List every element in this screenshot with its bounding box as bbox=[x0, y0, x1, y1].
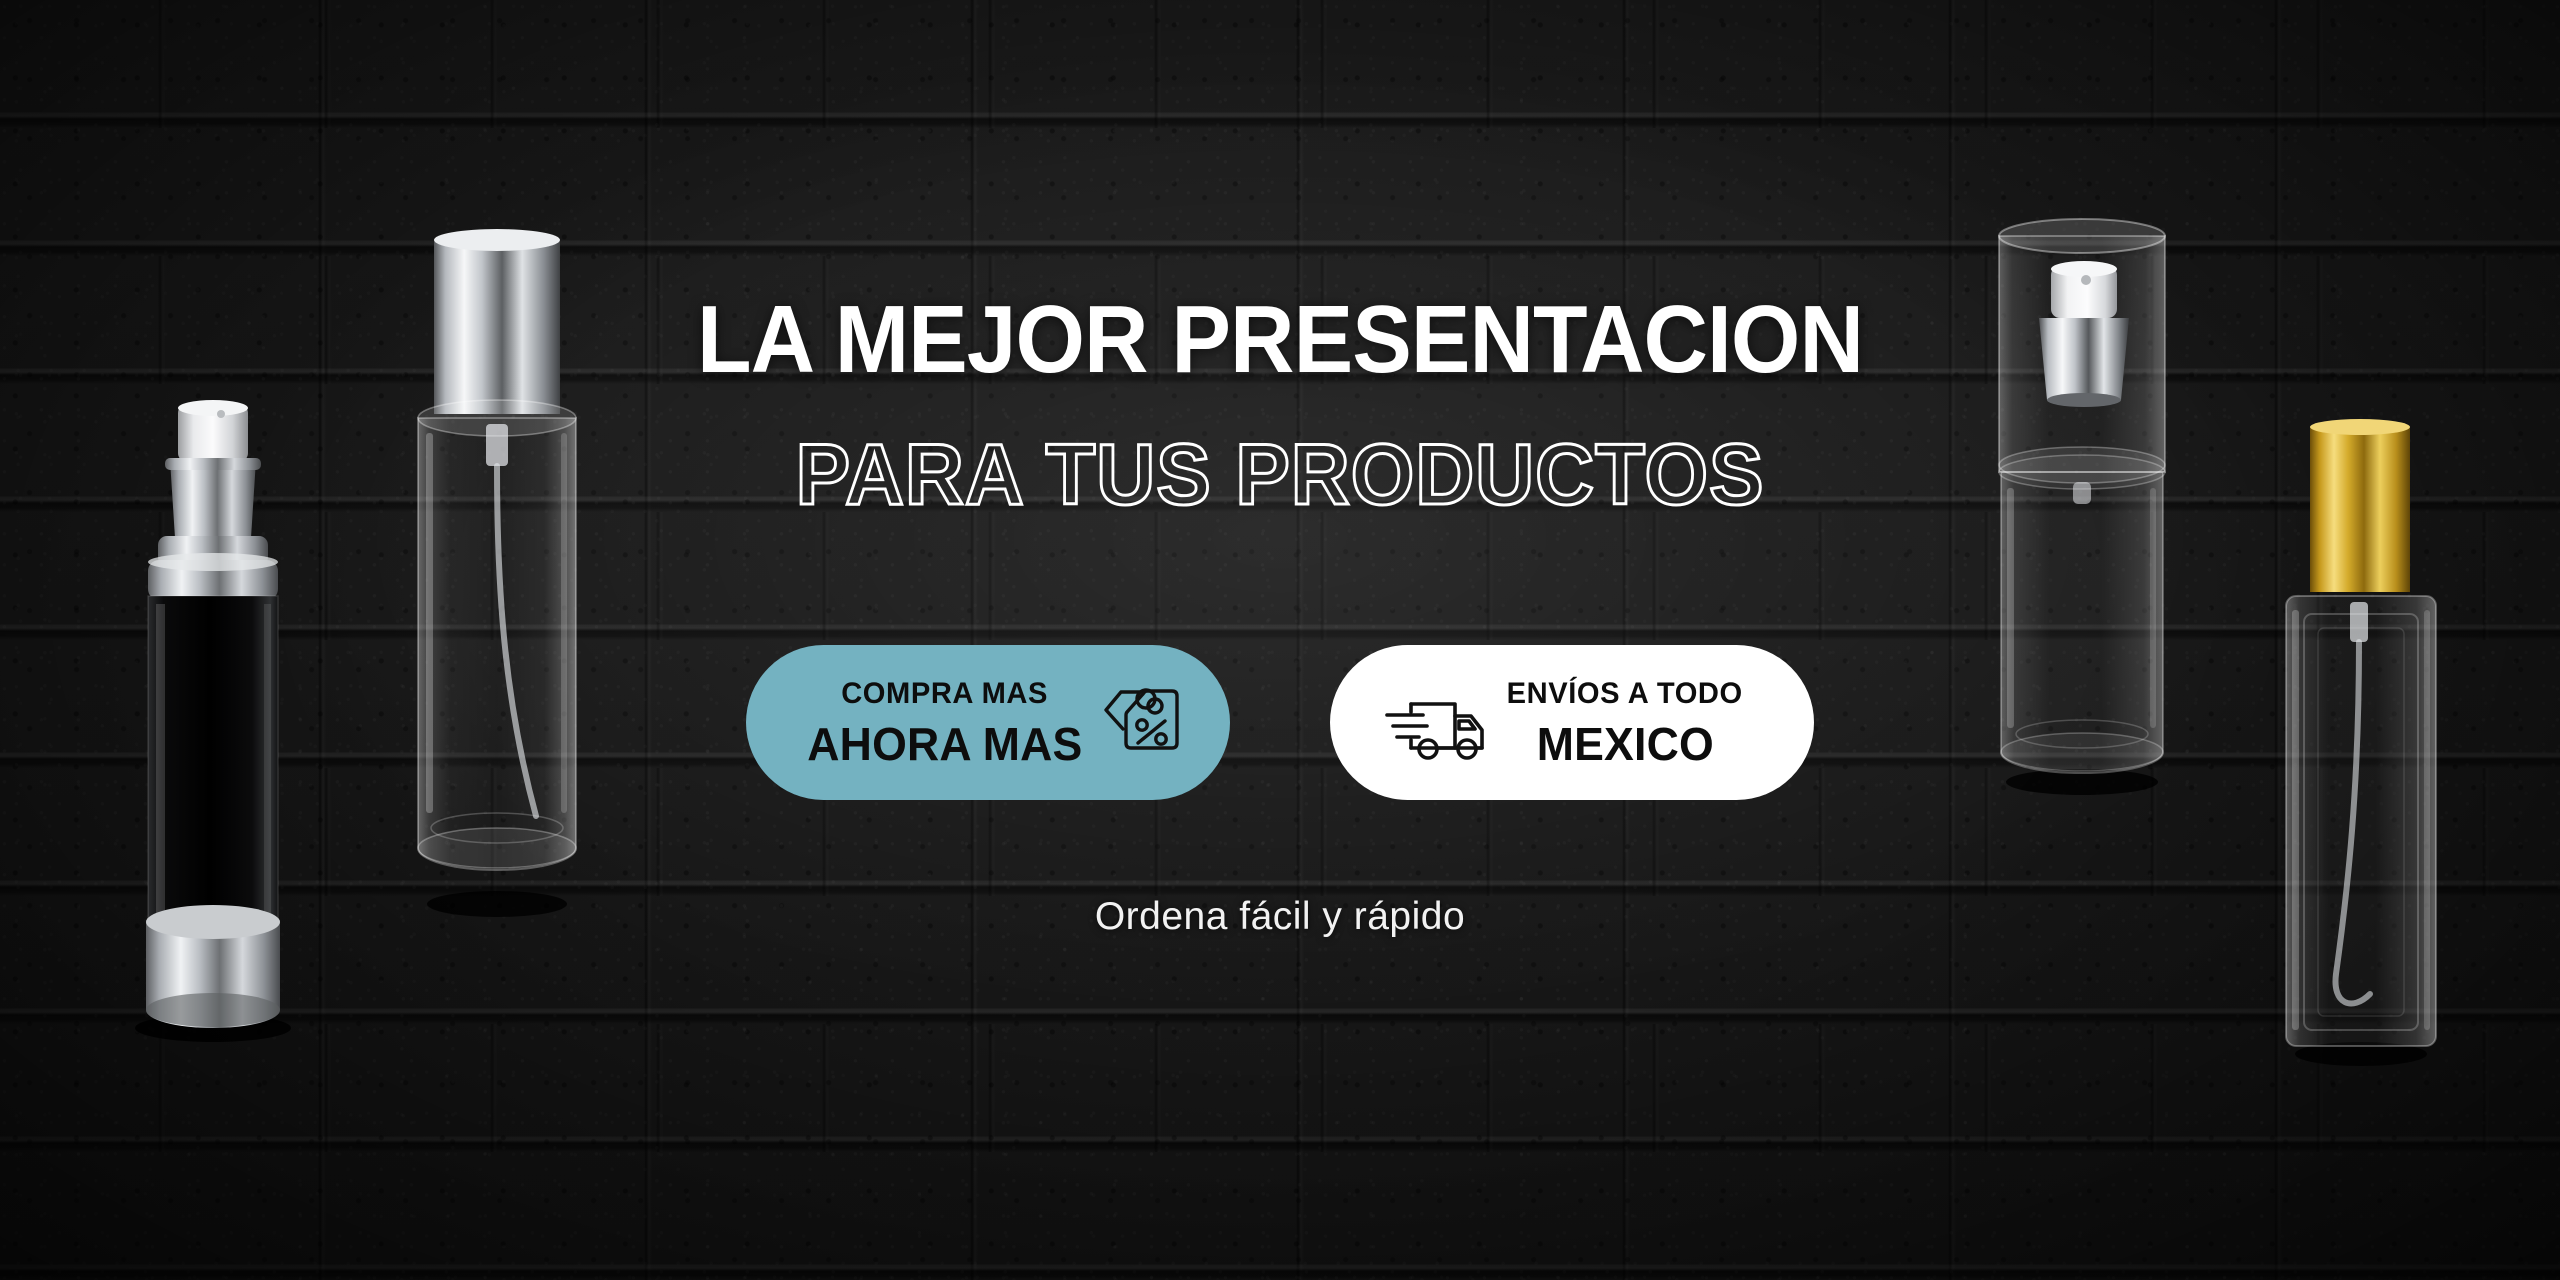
promo-banner: LA MEJOR PRESENTACION PARA TUS PRODUCTOS… bbox=[0, 0, 2560, 1280]
envios-label-group: ENVÍOS A TODO MEXICO bbox=[1503, 679, 1746, 767]
page-title: LA MEJOR PRESENTACION bbox=[90, 292, 2471, 388]
tagline-text: Ordena fácil y rápido bbox=[0, 895, 2560, 939]
compra-mas-label-group: COMPRA MAS AHORA MAS bbox=[803, 679, 1087, 767]
envios-line1: ENVÍOS A TODO bbox=[1507, 679, 1743, 709]
envios-line2: MEXICO bbox=[1536, 721, 1713, 767]
compra-mas-button[interactable]: COMPRA MAS AHORA MAS bbox=[746, 645, 1230, 800]
compra-mas-line2: AHORA MAS bbox=[807, 721, 1082, 767]
banner-content: LA MEJOR PRESENTACION PARA TUS PRODUCTOS… bbox=[0, 0, 2560, 1280]
page-subtitle: PARA TUS PRODUCTOS bbox=[64, 432, 2496, 518]
discount-tag-icon bbox=[1097, 677, 1189, 769]
compra-mas-line1: COMPRA MAS bbox=[842, 679, 1049, 709]
envios-mexico-button[interactable]: ENVÍOS A TODO MEXICO bbox=[1330, 645, 1814, 800]
delivery-truck-icon bbox=[1383, 682, 1489, 764]
cta-button-group: COMPRA MAS AHORA MAS bbox=[0, 645, 2560, 800]
